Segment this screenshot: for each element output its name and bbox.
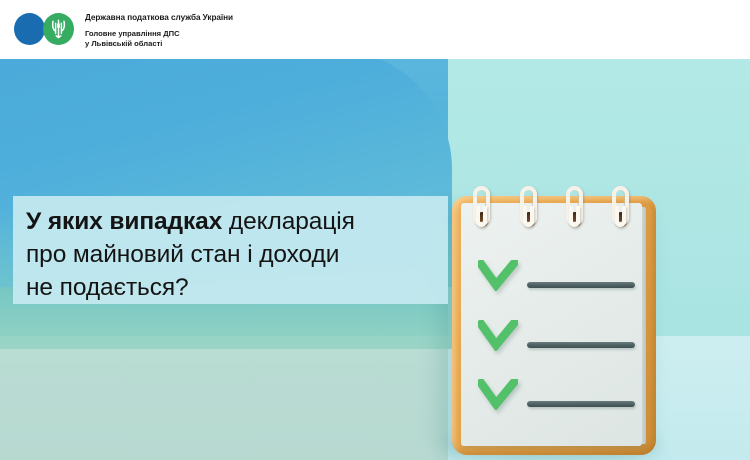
spiral-ring-icon xyxy=(473,186,490,232)
ring-wire-front-icon xyxy=(569,206,580,227)
ukraine-trident-icon xyxy=(51,19,66,39)
title-line-3: не подається? xyxy=(26,271,438,304)
agency-logo xyxy=(14,13,74,45)
banner-scene: У яких випадках декларація про майновий … xyxy=(0,59,750,460)
department-line-2: у Львівській області xyxy=(85,39,233,49)
spiral-ring-icon xyxy=(520,186,537,232)
spiral-ring-icon xyxy=(612,186,629,232)
checkmark-icon xyxy=(478,260,518,291)
checkmark-icon xyxy=(478,320,518,351)
ring-wire-front-icon xyxy=(476,206,487,227)
banner-title-box: У яких випадках декларація про майновий … xyxy=(13,196,448,304)
department-line-1: Головне управління ДПС xyxy=(85,29,233,39)
agency-name: Державна податкова служба України xyxy=(85,12,233,23)
checklist-line xyxy=(527,282,635,288)
logo-green-circle-icon xyxy=(43,13,74,45)
checklist-line xyxy=(527,401,635,407)
logo-blue-circle-icon xyxy=(14,13,45,45)
ring-wire-front-icon xyxy=(523,206,534,227)
title-bold-phrase: У яких випадках xyxy=(26,208,222,235)
notepad-paper-edge xyxy=(642,207,646,444)
title-line-1: У яких випадках декларація xyxy=(26,205,438,238)
header-text-block: Державна податкова служба України Головн… xyxy=(85,12,233,48)
notepad-checklist-illustration xyxy=(452,196,656,455)
site-header: Державна податкова служба України Головн… xyxy=(0,0,750,59)
spiral-ring-icon xyxy=(566,186,583,232)
ring-wire-front-icon xyxy=(615,206,626,227)
title-line-1-rest: декларація xyxy=(222,208,355,235)
title-line-2: про майновий стан і доходи xyxy=(26,238,438,271)
checklist-line xyxy=(527,342,635,348)
checkmark-icon xyxy=(478,379,518,410)
department-name: Головне управління ДПС у Львівській обла… xyxy=(85,29,233,48)
left-panel-floor-band xyxy=(0,336,448,460)
